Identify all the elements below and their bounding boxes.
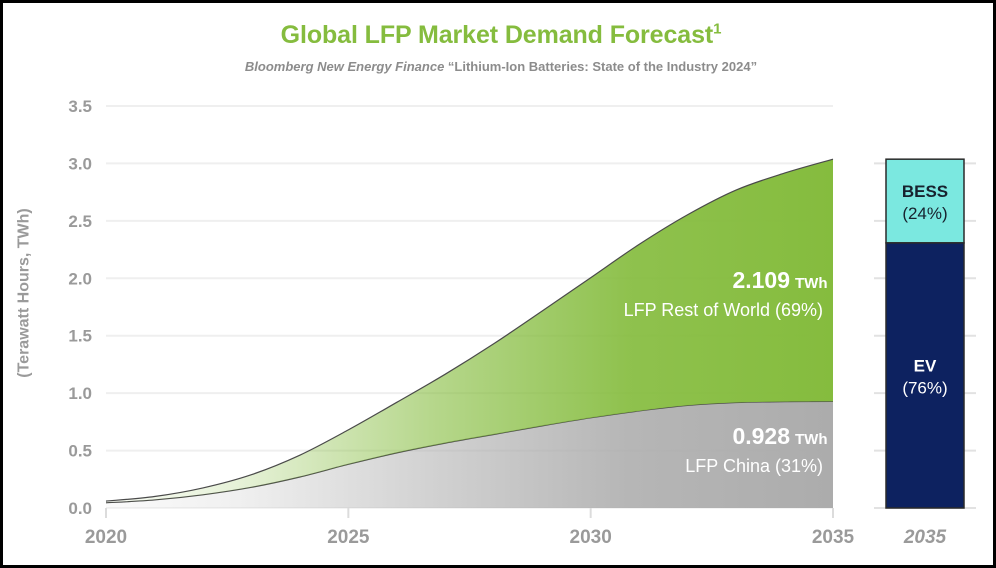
annotation-china-unit: TWh bbox=[795, 431, 827, 448]
y-tick-label: 0.5 bbox=[68, 442, 92, 461]
side-bar-axis-label: 2035 bbox=[903, 527, 947, 548]
annotation-rest-of-world-value: 2.109 bbox=[732, 267, 790, 293]
y-tick-label: 2.5 bbox=[68, 212, 92, 231]
annotation-rest-of-world-label: LFP Rest of World (69%) bbox=[624, 300, 823, 320]
annotation-china-label: LFP China (31%) bbox=[685, 456, 823, 476]
x-tick-label: 2025 bbox=[327, 527, 370, 548]
chart-figure: Global LFP Market Demand Forecast1 Bloom… bbox=[0, 0, 996, 568]
y-axis-tick-labels: 0.00.51.01.52.02.53.03.5 bbox=[68, 97, 92, 518]
x-tick-label: 2030 bbox=[570, 527, 612, 548]
annotation-china-value: 0.928 bbox=[732, 423, 790, 449]
y-tick-label: 3.0 bbox=[68, 154, 92, 173]
annotation-rest-of-world-unit: TWh bbox=[795, 275, 827, 292]
y-tick-label: 1.5 bbox=[68, 327, 92, 346]
x-axis-tick-labels: 2020202520302035 bbox=[85, 508, 855, 548]
side-bar-percent-ev: (76%) bbox=[902, 378, 947, 397]
x-tick-label: 2035 bbox=[812, 527, 855, 548]
x-tick-label: 2020 bbox=[85, 527, 127, 548]
side-bar-label-ev: EV bbox=[914, 356, 937, 375]
y-tick-label: 0.0 bbox=[68, 499, 92, 518]
chart-plot-area: 0.00.51.01.52.02.53.03.5 202020252030203… bbox=[3, 3, 996, 568]
side-bar-percent-bess: (24%) bbox=[902, 204, 947, 223]
y-tick-label: 2.0 bbox=[68, 269, 92, 288]
side-bar-label-bess: BESS bbox=[902, 182, 948, 201]
side-bar-stacked: BESS(24%)EV(76%)2035 bbox=[886, 159, 964, 548]
y-tick-label: 3.5 bbox=[68, 97, 92, 116]
y-tick-label: 1.0 bbox=[68, 384, 92, 403]
